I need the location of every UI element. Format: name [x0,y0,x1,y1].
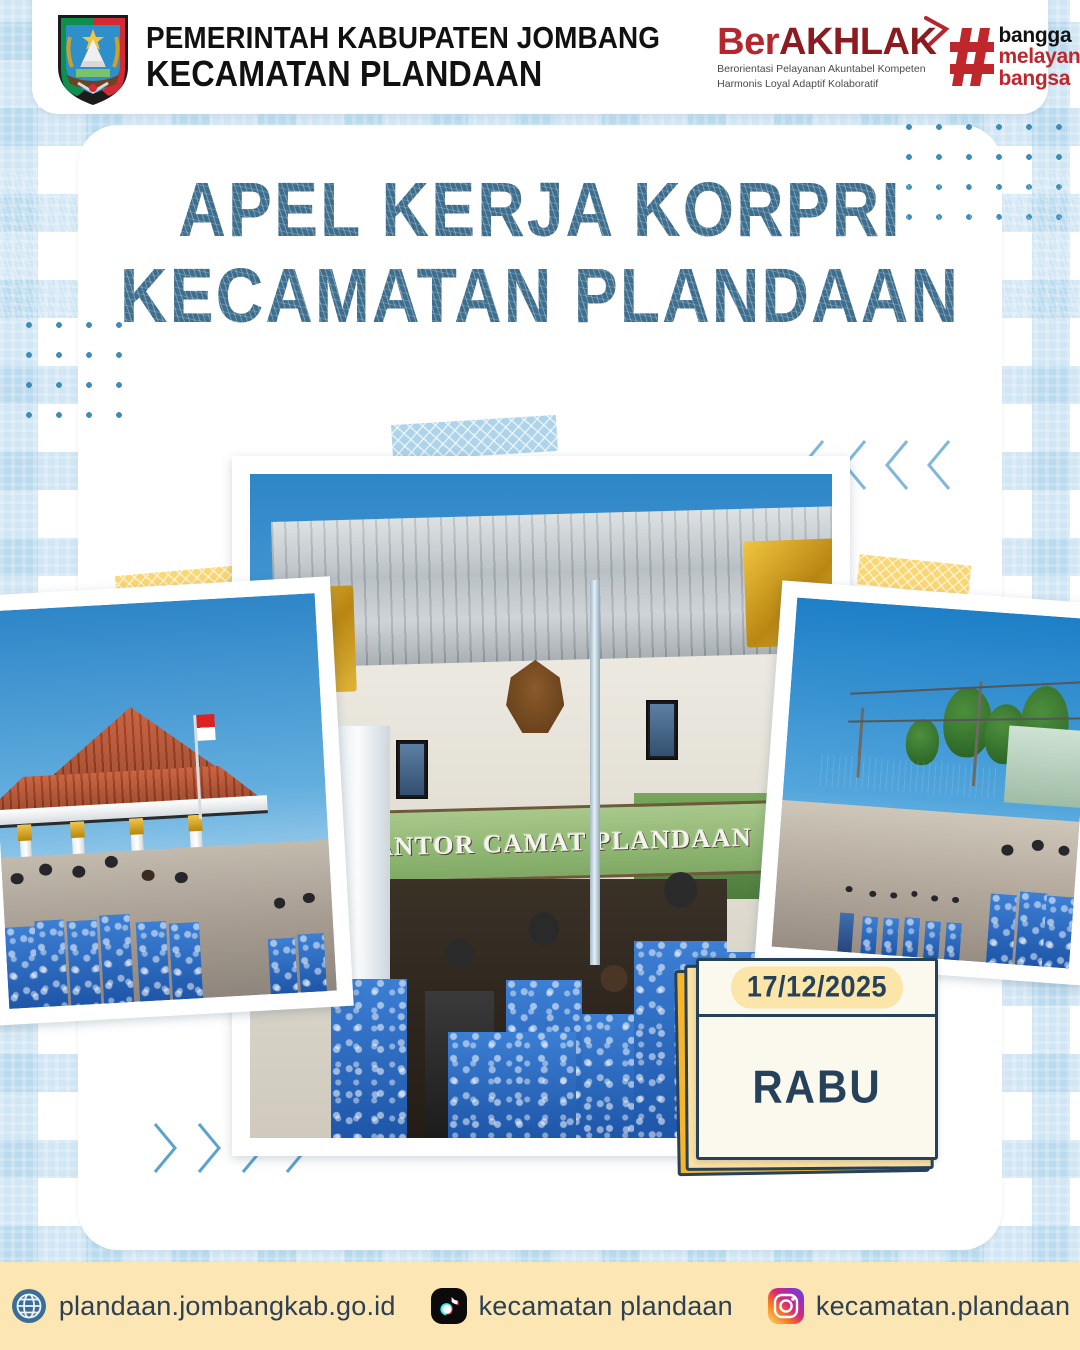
left-photo-pendopo-apel [0,576,354,1025]
footer-bar: plandaan.jombangkab.go.id kecamatan plan… [0,1262,1080,1350]
gov-line-1: PEMERINTAH KABUPATEN JOMBANG [146,22,660,53]
footer-tiktok-label: kecamatan plandaan [479,1291,733,1322]
berakhlak-logo: BerAKHLAK Berorientasi Pelayanan Akuntab… [717,23,936,91]
berakhlak-prefix: Ber [717,21,779,63]
logo-group: BerAKHLAK Berorientasi Pelayanan Akuntab… [717,23,1080,91]
bangga-line-1: bangga [998,25,1080,46]
footer-instagram-label: kecamatan.plandaan [816,1291,1070,1322]
berakhlak-swoosh-icon [924,16,950,46]
footer-website-label: plandaan.jombangkab.go.id [59,1291,396,1322]
day-name-value: RABU [699,1010,935,1164]
footer-item-instagram[interactable]: kecamatan.plandaan [767,1287,1070,1325]
government-title-block: PEMERINTAH KABUPATEN JOMBANG KECAMATAN P… [146,22,717,92]
date-card-header: 17/12/2025 [699,961,935,1017]
hashtag-icon [950,26,994,88]
date-card: 17/12/2025 RABU [676,958,938,1180]
berakhlak-sub-2: Harmonis Loyal Adaptif Kolaboratif [717,78,936,91]
footer-item-website[interactable]: plandaan.jombangkab.go.id [10,1287,396,1325]
date-card-front-page: 17/12/2025 RABU [696,958,938,1160]
berakhlak-suffix: AKHLAK [779,21,936,63]
gov-line-2: KECAMATAN PLANDAAN [146,56,660,92]
jombang-coat-of-arms-icon [54,9,132,105]
bangga-melayani-bangsa-logo: bangga melayani bangsa [950,25,1080,89]
bangga-line-2: melayani [998,46,1080,67]
globe-icon [10,1287,48,1325]
berakhlak-wordmark: BerAKHLAK [717,23,936,61]
tiktok-icon [430,1287,468,1325]
instagram-icon [767,1287,805,1325]
right-photo-lapangan-apel [754,580,1080,985]
date-value: 17/12/2025 [731,966,903,1008]
berakhlak-sub-1: Berorientasi Pelayanan Akuntabel Kompete… [717,63,936,76]
header-bar: PEMERINTAH KABUPATEN JOMBANG KECAMATAN P… [32,0,1048,114]
bangga-line-3: bangsa [998,68,1080,89]
office-sign-text: KANTOR CAMAT PLANDAAN [352,822,752,862]
footer-item-tiktok[interactable]: kecamatan plandaan [430,1287,733,1325]
